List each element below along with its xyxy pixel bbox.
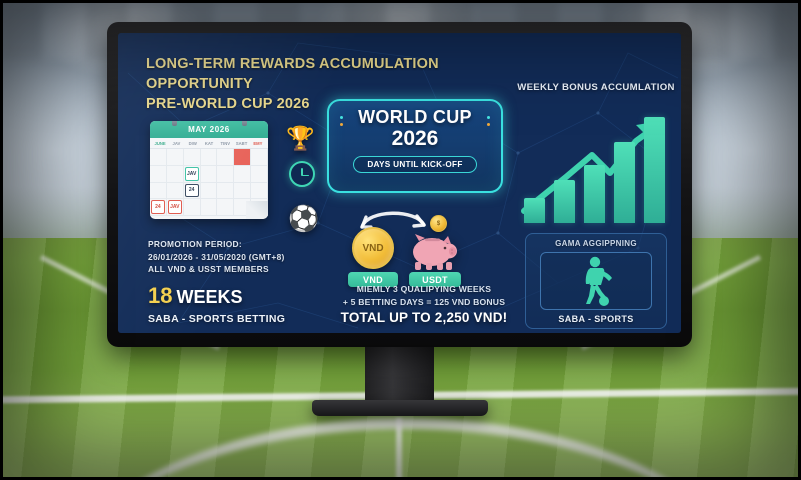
calendar-cell xyxy=(234,166,251,183)
promo-period-label: PROMOTION PERIOD: xyxy=(148,238,353,251)
calendar-cell xyxy=(150,166,167,183)
world-cup-year: 2026 xyxy=(329,127,501,151)
calendar-cell xyxy=(150,149,167,166)
monitor-stand-neck xyxy=(365,347,434,407)
calendar-cell xyxy=(184,149,201,166)
calendar-month-label: MAY 2026 xyxy=(150,121,268,138)
bonus-summary-line-2: + 5 BETTING DAYS = 125 VND BONUS xyxy=(324,296,524,309)
calendar-weekday-5: SABT xyxy=(233,141,249,146)
calendar-weekday-6: EMY xyxy=(250,141,266,146)
chart-title: WEEKLY BONUS ACCUMLATION xyxy=(501,82,681,93)
calendar-cell: JAV xyxy=(184,166,201,183)
vnd-coin-icon: VND xyxy=(352,227,394,269)
calendar-chip-red-number: 24 xyxy=(151,200,165,214)
saba-sports-card[interactable]: GAMA AGGIPPNING SABA - SPORTS xyxy=(525,233,667,329)
calendar-cell xyxy=(201,149,218,166)
weeks-number: 18 xyxy=(148,283,172,308)
chart-bar-3 xyxy=(584,165,605,223)
weeks-highlight: 18WEEKS xyxy=(148,283,353,309)
calendar-weekday-3: KAT xyxy=(201,141,217,146)
monitor-screen: LONG-TERM REWARDS ACCUMULATION OPPORTUNI… xyxy=(118,33,681,333)
chart-bar-1 xyxy=(524,198,545,223)
monitor-stand-base xyxy=(312,400,488,416)
calendar-cell xyxy=(234,183,251,200)
chart-bar-2 xyxy=(554,180,575,223)
saba-card-title: GAMA AGGIPPNING xyxy=(526,239,666,248)
calendar-chip-teal: JAV xyxy=(185,167,199,181)
calendar-cell: 24 xyxy=(150,199,167,216)
chart-bar-5 xyxy=(644,117,665,223)
clock-icon xyxy=(289,161,315,187)
monitor-bezel: LONG-TERM REWARDS ACCUMULATION OPPORTUNI… xyxy=(107,22,692,347)
saba-card-image-frame xyxy=(540,252,652,310)
currency-group: VND $ VND USDT xyxy=(346,205,466,289)
bonus-summary-line-1: MIEMLY 3 QUALIPYING WEEKS xyxy=(324,283,524,296)
pitch-halfway-line xyxy=(396,418,402,480)
calendar-cell xyxy=(217,149,234,166)
calendar-weekday-row: JUNE JAV DIW KAT TINV SABT EMY xyxy=(150,138,268,148)
soccer-player-icon xyxy=(575,256,617,306)
calendar-cell xyxy=(201,166,218,183)
calendar-cell xyxy=(217,166,234,183)
calendar-chip-red-text: JAV xyxy=(168,200,182,214)
calendar-weekday-1: JAV xyxy=(168,141,184,146)
calendar-cell xyxy=(251,183,268,200)
calendar-cell xyxy=(251,149,268,166)
chart-bar-4 xyxy=(614,142,635,223)
product-line: SABA - SPORTS BETTING xyxy=(148,313,353,325)
trophy-icon: 🏆 xyxy=(286,125,315,152)
calendar-weekday-2: DIW xyxy=(185,141,201,146)
saba-card-label: SABA - SPORTS xyxy=(526,314,666,324)
headline-line-1: LONG-TERM REWARDS ACCUMULATION OPPORTUNI… xyxy=(146,54,546,94)
calendar-weekday-4: TINV xyxy=(217,141,233,146)
calendar-cell xyxy=(167,166,184,183)
weeks-unit: WEEKS xyxy=(176,287,242,307)
calendar-cell xyxy=(217,199,234,216)
calendar-chip-dark: 24 xyxy=(185,184,199,198)
piggy-bank-icon xyxy=(406,229,458,271)
calendar-weekday-0: JUNE xyxy=(152,141,168,146)
bonus-summary: MIEMLY 3 QUALIPYING WEEKS + 5 BETTING DA… xyxy=(324,283,524,325)
calendar-cell: 24 xyxy=(184,183,201,200)
calendar-cell xyxy=(251,166,268,183)
screenshot-stage: LONG-TERM REWARDS ACCUMULATION OPPORTUNI… xyxy=(0,0,801,480)
calendar-cell-highlight-red xyxy=(234,149,251,166)
world-cup-title: WORLD CUP xyxy=(329,107,501,128)
promo-period-dates: 26/01/2026 - 31/05/2020 (GMT+8) xyxy=(148,251,353,264)
calendar-ring-right xyxy=(242,121,247,126)
days-until-kickoff-pill: DAYS UNTIL KICK-OFF xyxy=(353,156,477,173)
calendar-cell xyxy=(217,183,234,200)
calendar-widget: MAY 2026 JUNE JAV DIW KAT TINV SABT EMY xyxy=(150,121,268,219)
calendar-ring-left xyxy=(172,121,177,126)
world-cup-panel: WORLD CUP 2026 DAYS UNTIL KICK-OFF xyxy=(327,99,503,193)
weekly-bonus-bar-chart xyxy=(518,111,678,223)
calendar-page-curl xyxy=(246,201,268,219)
calendar-cell xyxy=(150,183,167,200)
calendar-cell xyxy=(167,183,184,200)
promotion-details: PROMOTION PERIOD: 26/01/2026 - 31/05/202… xyxy=(148,238,353,325)
calendar-cell xyxy=(184,199,201,216)
bonus-total-line: TOTAL UP TO 2,250 VND! xyxy=(324,310,524,325)
calendar-cell xyxy=(201,183,218,200)
calendar-cell xyxy=(201,199,218,216)
promo-eligibility: ALL VND & USST MEMBERS xyxy=(148,263,353,276)
soccer-ball-icon: ⚽ xyxy=(288,205,319,234)
calendar-cell xyxy=(167,149,184,166)
calendar-cell: JAV xyxy=(167,199,184,216)
